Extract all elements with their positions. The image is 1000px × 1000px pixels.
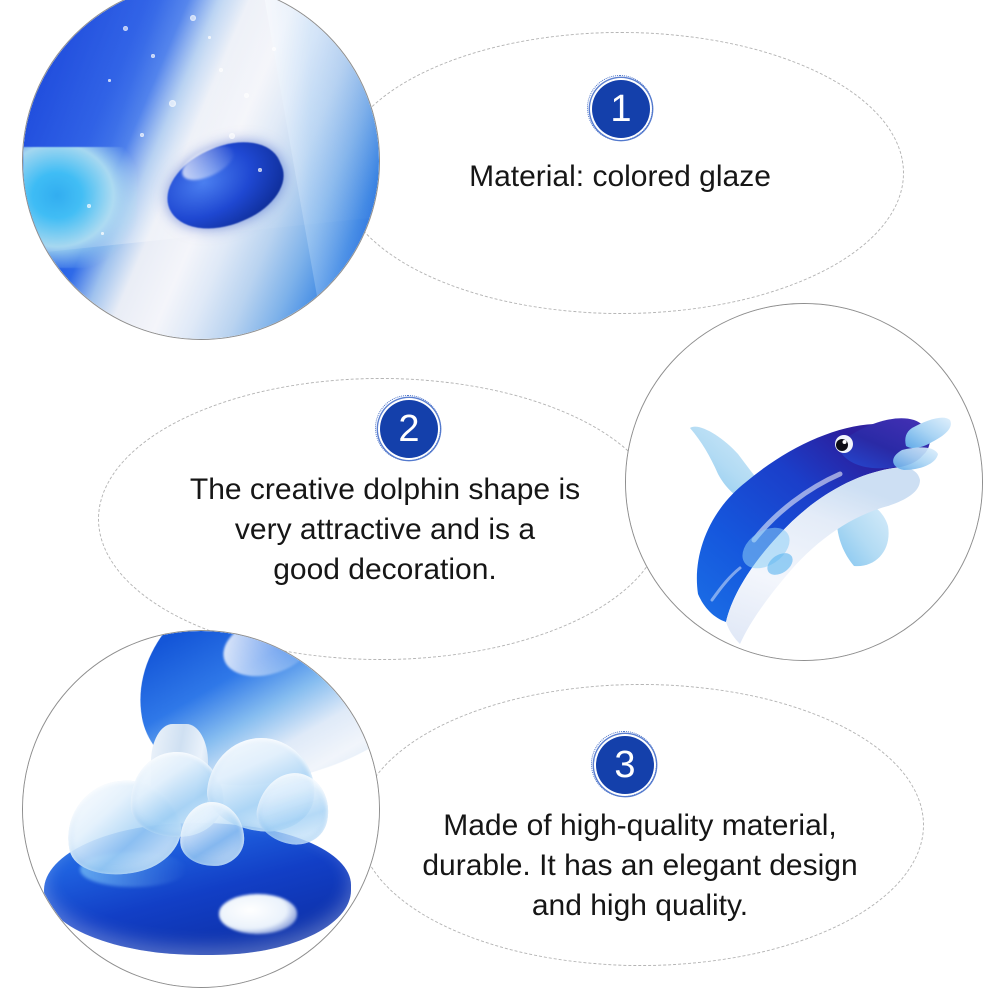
infographic-page: 1 2 3 Material: colored glaze The creati… — [0, 0, 1000, 1000]
photo-base — [22, 630, 380, 988]
photo-macro-glass — [22, 0, 380, 340]
step-badge-1: 1 — [592, 80, 650, 138]
step-badge-3: 3 — [596, 736, 654, 794]
photo-dolphin — [625, 303, 983, 661]
photo-base-image — [23, 631, 379, 987]
step-badge-2: 2 — [380, 400, 438, 458]
feature-caption-2: The creative dolphin shape is very attra… — [165, 470, 605, 590]
photo-macro-glass-image — [23, 0, 379, 339]
glass-base-white-spot — [219, 894, 297, 933]
feature-caption-3: Made of high-quality material, durable. … — [380, 806, 900, 926]
dolphin-eye-pupil — [836, 439, 848, 451]
feature-caption-1: Material: colored glaze — [405, 157, 835, 197]
dolphin-figurine-svg — [626, 304, 982, 660]
photo-dolphin-image — [626, 304, 982, 660]
dolphin-eye-glint — [843, 440, 847, 444]
